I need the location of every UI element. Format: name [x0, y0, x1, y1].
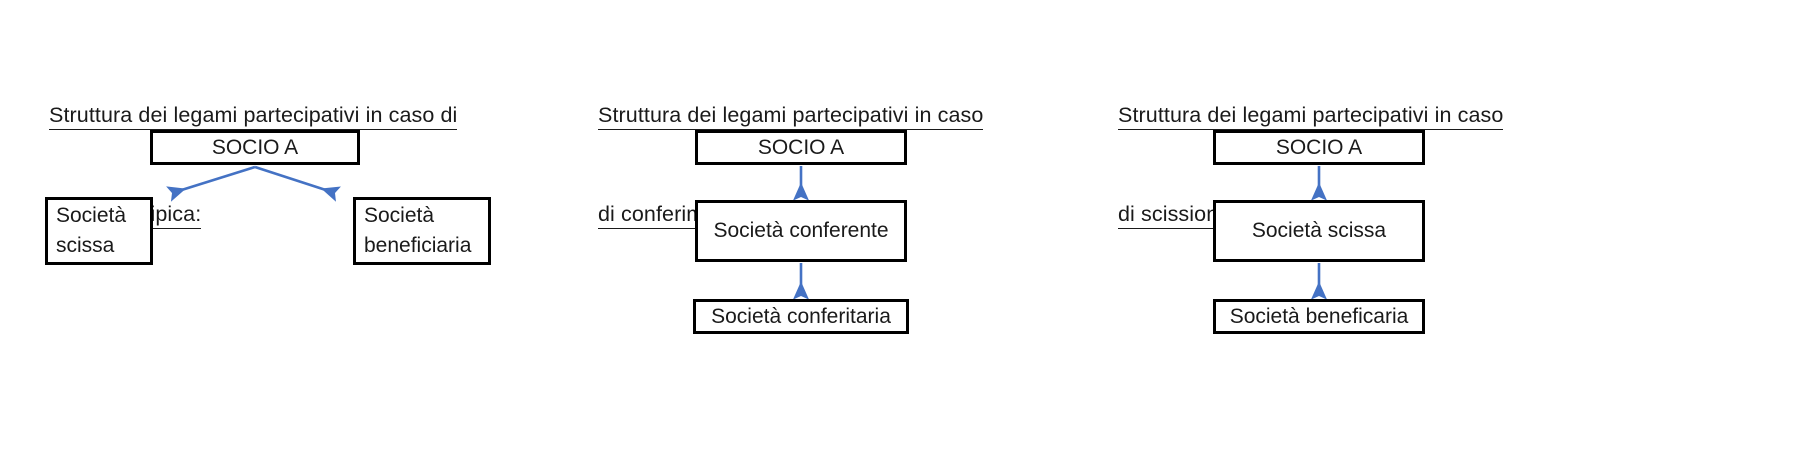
node-socio-a: SOCIO A	[1213, 130, 1425, 165]
node-label: SOCIO A	[212, 133, 298, 163]
node-label: SOCIO A	[1276, 133, 1362, 163]
panel-title-line-1: Struttura dei legami partecipativi in ca…	[598, 103, 983, 130]
node-label: Società conferitaria	[711, 302, 891, 332]
panel-title-line-1: Struttura dei legami partecipativi in ca…	[1118, 103, 1503, 130]
panel-title-line-1: Struttura dei legami partecipativi in ca…	[49, 103, 457, 130]
node-socio-a: SOCIO A	[150, 130, 360, 165]
node-label: Società scissa	[1252, 216, 1386, 246]
node-socio-a: SOCIO A	[695, 130, 907, 165]
node-societa-scissa: Società scissa	[1213, 200, 1425, 262]
node-label: Società scissa	[56, 201, 126, 261]
node-societa-beneficiaria: Società beneficiaria	[353, 197, 491, 265]
node-societa-conferitaria: Società conferitaria	[693, 299, 909, 334]
panel-conferimento: Struttura dei legami partecipativi in ca…	[595, 0, 1115, 460]
node-label: Società beneficaria	[1230, 302, 1409, 332]
node-label: Società beneficiaria	[364, 201, 471, 261]
node-societa-scissa: Società scissa	[45, 197, 153, 265]
node-societa-beneficaria: Società beneficaria	[1213, 299, 1425, 334]
node-label: Società conferente	[713, 216, 888, 246]
panel-scissione-con-scorporo: Struttura dei legami partecipativi in ca…	[1115, 0, 1814, 460]
node-societa-conferente: Società conferente	[695, 200, 907, 262]
node-label: SOCIO A	[758, 133, 844, 163]
panel-scissione-tipica: Struttura dei legami partecipativi in ca…	[0, 0, 595, 460]
